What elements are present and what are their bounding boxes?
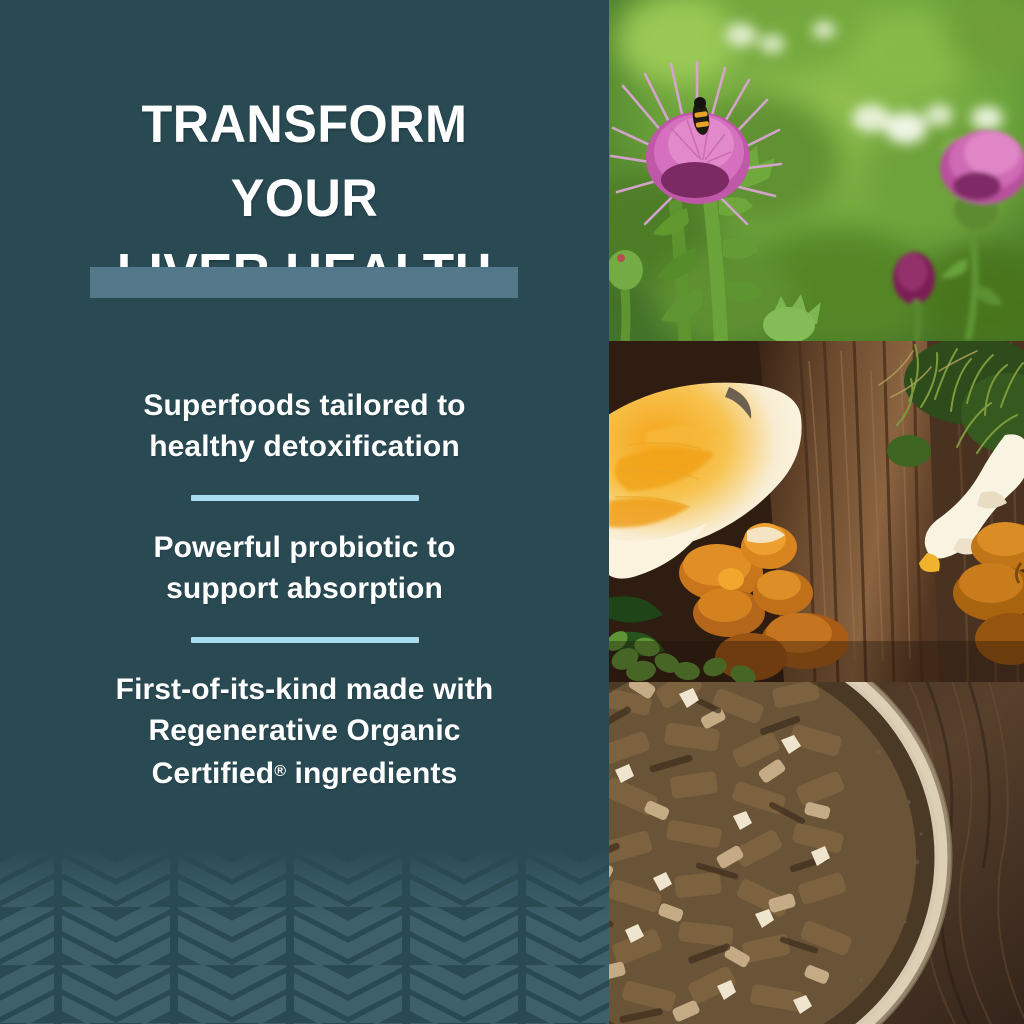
certified-word: Certified — [152, 757, 275, 790]
photo-bracket-mushrooms — [609, 341, 1024, 682]
benefit-divider-2 — [191, 637, 419, 643]
headline-highlight-bar — [90, 267, 518, 298]
headline-line-1: TRANSFORM — [15, 88, 594, 162]
benefits-list: Superfoods tailored to healthy detoxific… — [0, 385, 609, 794]
left-text-panel: TRANSFORM YOUR LIVER HEALTH Superfoods t… — [0, 0, 609, 1024]
benefit-superfoods-line-2: healthy detoxification — [54, 426, 555, 467]
benefit-regenerative-line-3: Certified® ingredients — [54, 751, 555, 794]
photo-milk-thistle — [609, 0, 1024, 341]
registered-trademark-icon: ® — [274, 763, 286, 780]
benefit-item-regenerative: First-of-its-kind made with Regenerative… — [0, 669, 609, 794]
benefit-item-probiotic: Powerful probiotic to support absorption — [0, 527, 609, 609]
benefit-regenerative-line-2: Regenerative Organic — [54, 710, 555, 751]
ingredients-word: ingredients — [286, 757, 457, 790]
chevron-herringbone-pattern-icon — [0, 849, 609, 1024]
photo-stack — [609, 0, 1024, 1024]
benefit-divider-1 — [191, 495, 419, 501]
benefit-superfoods-line-1: Superfoods tailored to — [54, 385, 555, 426]
benefit-regenerative-line-1: First-of-its-kind made with — [54, 669, 555, 710]
benefit-probiotic-line-2: support absorption — [54, 568, 555, 609]
benefit-item-superfoods: Superfoods tailored to healthy detoxific… — [0, 385, 609, 467]
headline-block: TRANSFORM YOUR LIVER HEALTH — [0, 88, 609, 310]
promo-graphic: TRANSFORM YOUR LIVER HEALTH Superfoods t… — [0, 0, 1024, 1024]
photo-dried-root — [609, 682, 1024, 1024]
benefit-probiotic-line-1: Powerful probiotic to — [54, 527, 555, 568]
headline-line-2: YOUR — [15, 162, 594, 236]
